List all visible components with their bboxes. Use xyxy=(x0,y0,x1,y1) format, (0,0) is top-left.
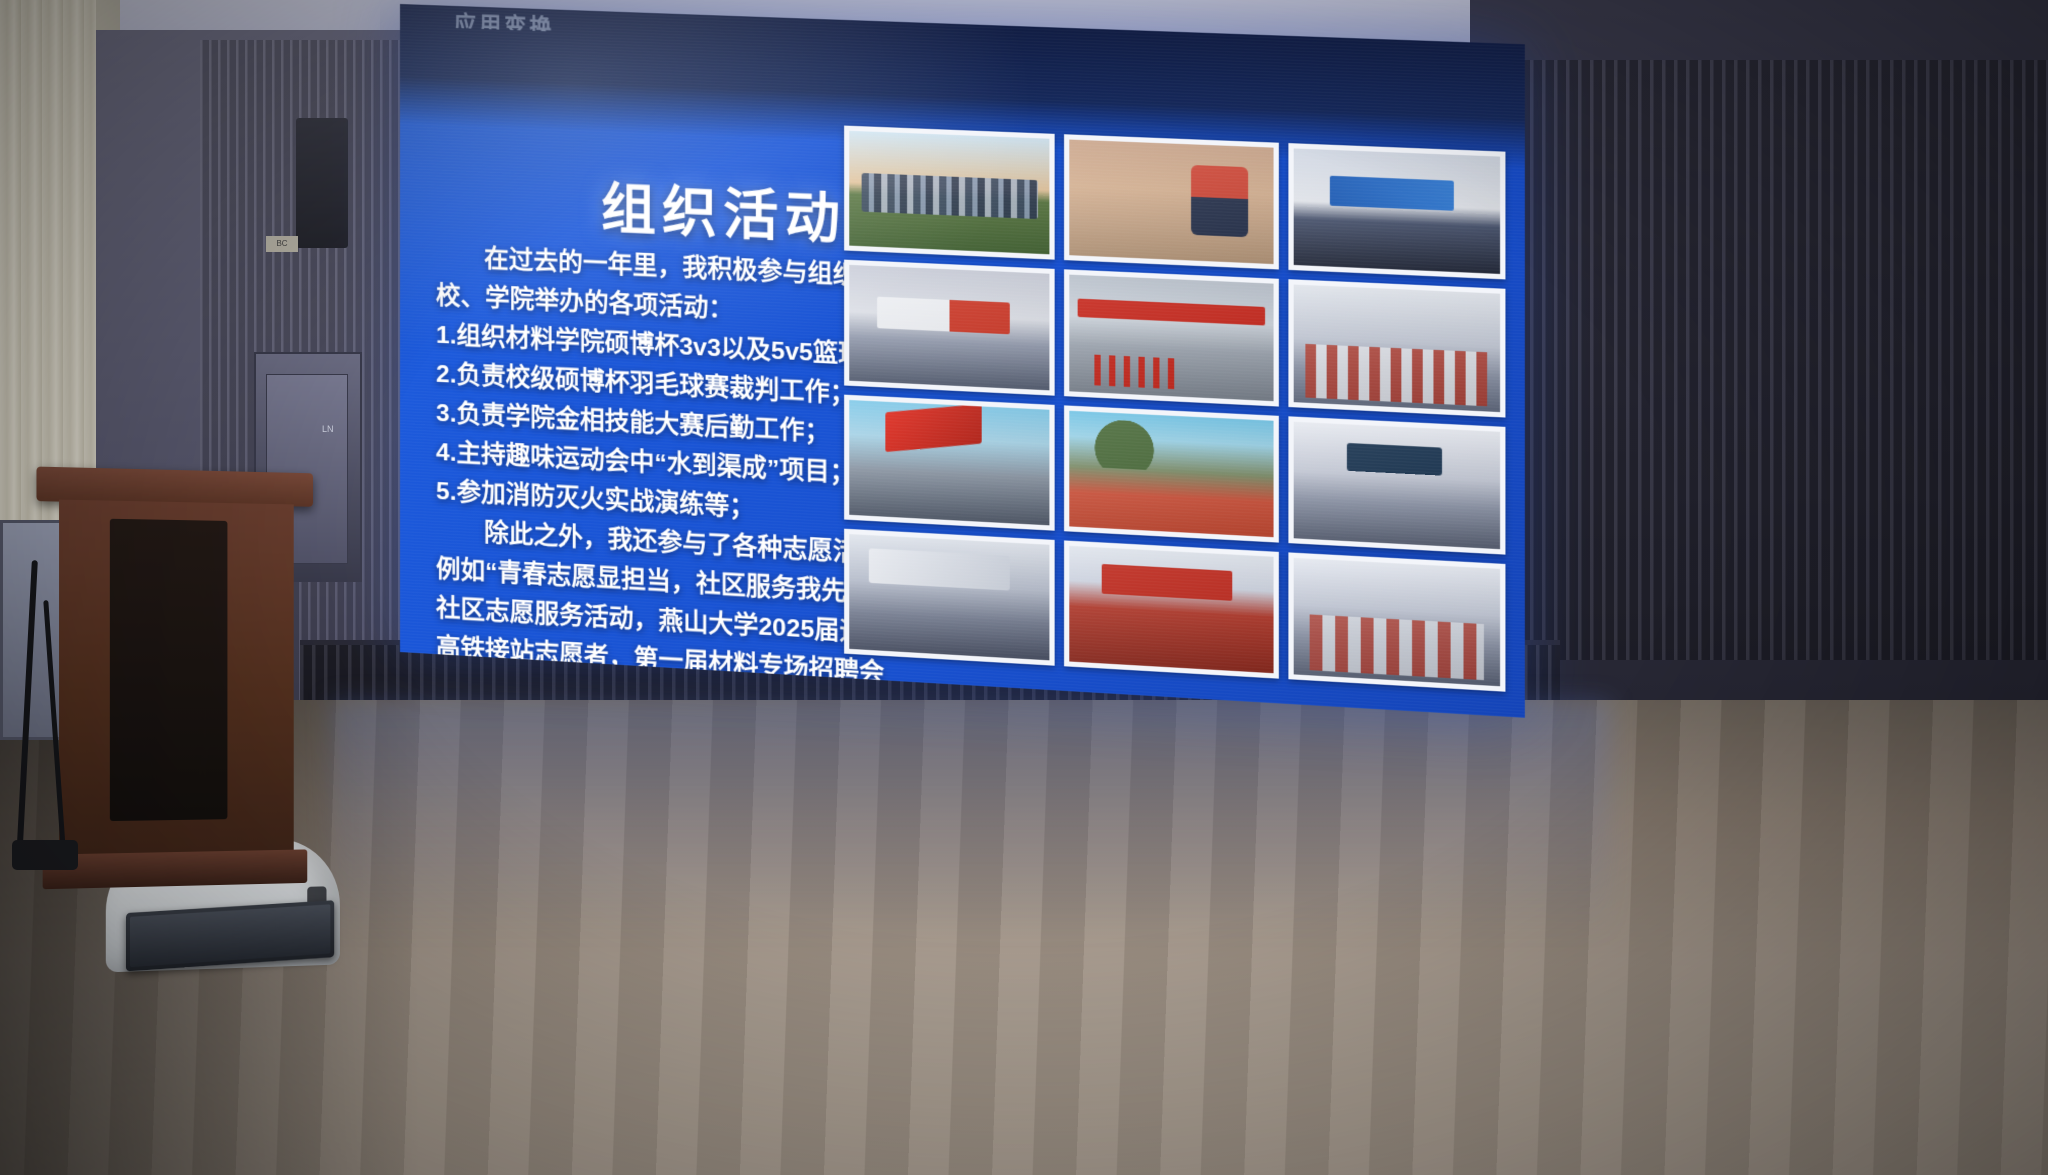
floor-cable-box xyxy=(12,840,78,870)
photo-lecture-hall-screen xyxy=(1288,143,1505,280)
podium-front-panel xyxy=(110,519,228,821)
photo-fire-drill-smoke xyxy=(1064,270,1278,406)
wall-speaker xyxy=(296,118,348,248)
slide-surface: 应用变换 组织活动 在过去的一年里，我积极参与组织学 校、学院举办的各项活动： … xyxy=(400,4,1525,718)
wall-sign: BC xyxy=(266,236,298,252)
photo-indoor-booth-hall xyxy=(844,528,1055,665)
right-wall-slat-panel xyxy=(1470,60,2048,660)
photo-volunteer-bicycle xyxy=(1064,134,1278,269)
equipment-rack-label: LN xyxy=(322,424,334,434)
podium-base xyxy=(43,849,308,889)
photo-ceremony-red-stage xyxy=(1064,540,1278,678)
photo-team-group-field xyxy=(844,126,1055,260)
slide-photo-grid xyxy=(844,126,1505,692)
photo-outdoor-red-carpet xyxy=(1064,405,1278,542)
slide-body: 在过去的一年里，我积极参与组织学 校、学院举办的各项活动： 1.组织材料学院硕博… xyxy=(436,238,914,718)
podium-monitor-screen xyxy=(130,904,330,967)
screenshot-root: BC 应用变换 组织活动 在过去的一年里，我积极参与组织学 校、学院举办的各项活… xyxy=(0,0,2048,1175)
photo-auditorium-seats xyxy=(1288,552,1505,692)
floor-screen-reflection xyxy=(330,700,1610,940)
led-screen: 应用变换 组织活动 在过去的一年里，我积极参与组织学 校、学院举办的各项活动： … xyxy=(400,4,1525,718)
photo-party-meeting-hall xyxy=(844,260,1055,395)
photo-classroom-red-seats xyxy=(1288,279,1505,417)
photo-classroom-projector xyxy=(1288,416,1505,555)
podium xyxy=(36,467,313,894)
photo-red-flag-march xyxy=(844,394,1055,530)
